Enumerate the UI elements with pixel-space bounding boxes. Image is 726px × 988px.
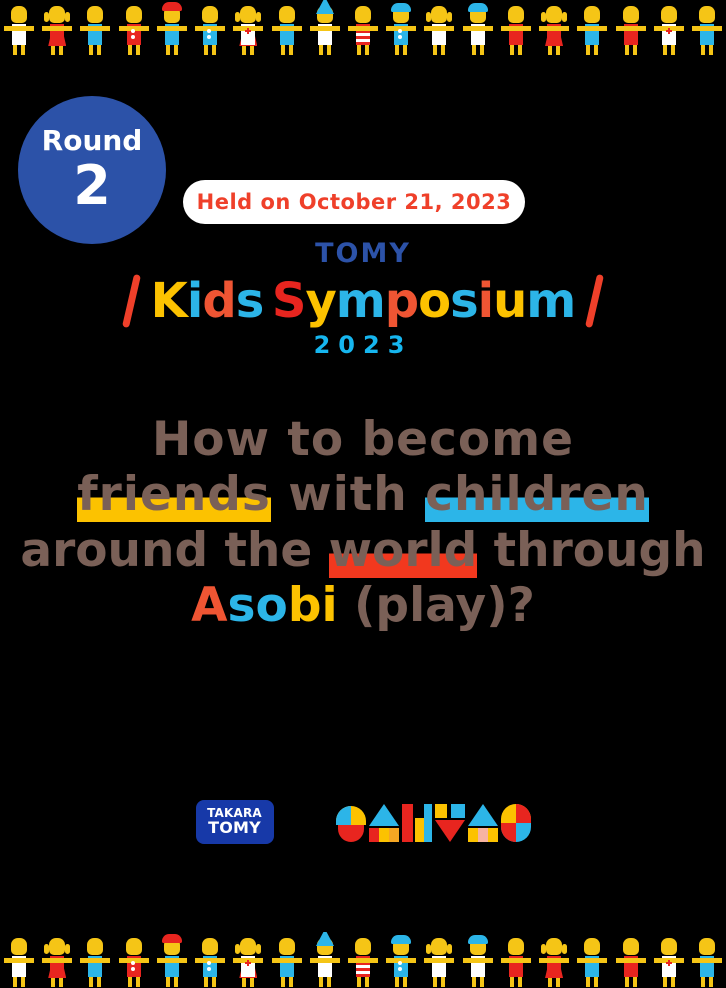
figure-head xyxy=(126,938,142,955)
poster-root: Round 2 Held on October 21, 2023 TOMY Ki… xyxy=(0,0,726,988)
top-kid-figure-5 xyxy=(195,2,225,56)
figure-pigtail-left xyxy=(541,944,546,954)
bottom-kid-figure-9 xyxy=(348,934,378,988)
bottom-kid-figure-7 xyxy=(272,934,302,988)
figure-head xyxy=(126,6,142,23)
figure-head xyxy=(202,6,218,23)
figure-head xyxy=(11,938,27,955)
bottom-kid-figure-1 xyxy=(42,934,72,988)
figure-arms xyxy=(424,958,454,963)
figure-arms xyxy=(310,26,340,31)
figure-legs xyxy=(281,976,293,987)
figure-arms xyxy=(539,958,569,963)
top-kid-border xyxy=(0,0,726,56)
figure-arms xyxy=(4,26,34,31)
figure-head xyxy=(355,938,371,955)
figure-legs xyxy=(319,44,331,55)
top-kid-figure-15 xyxy=(577,2,607,56)
headline-line4-segment-2: bi xyxy=(288,578,338,633)
figure-cap xyxy=(391,3,411,12)
figure-head xyxy=(279,6,295,23)
figure-legs xyxy=(395,44,407,55)
top-kid-figure-3 xyxy=(119,2,149,56)
top-kid-figure-4 xyxy=(157,2,187,56)
figure-head xyxy=(355,6,371,23)
top-kid-figure-10 xyxy=(386,2,416,56)
headline-line4: Asobi (play)? xyxy=(0,578,726,633)
headline-line2-segment-2: children xyxy=(425,467,649,522)
event-logo-letter-10: s xyxy=(450,273,478,329)
figure-arms xyxy=(692,958,722,963)
figure-legs xyxy=(89,976,101,987)
canvas-shape-block-red xyxy=(369,828,379,842)
headline-line3: around the world through xyxy=(0,523,726,578)
figure-pigtail-left xyxy=(235,944,240,954)
figure-head xyxy=(11,6,27,23)
canvas-letter-s xyxy=(501,804,531,844)
bottom-kid-figure-0 xyxy=(4,934,34,988)
canvas-shape-bar-red xyxy=(402,804,413,842)
figure-cross xyxy=(666,28,672,34)
figure-cap-red xyxy=(162,2,182,11)
figure-arms xyxy=(616,958,646,963)
figure-arms xyxy=(348,958,378,963)
headline-line4-segment-3: (play)? xyxy=(338,578,535,633)
figure-head xyxy=(546,6,562,23)
figure-dots xyxy=(398,961,404,975)
figure-arms xyxy=(42,958,72,963)
canvas-shape-top-blue xyxy=(451,804,465,818)
figure-pigtail-left xyxy=(44,944,49,954)
figure-cross xyxy=(245,960,251,966)
headline-line1-segment-0: How to become xyxy=(152,412,574,467)
top-kid-figure-14 xyxy=(539,2,569,56)
figure-head xyxy=(240,938,256,955)
top-kid-figure-11 xyxy=(424,2,454,56)
event-logo-letter-4 xyxy=(263,273,272,329)
figure-legs xyxy=(13,976,25,987)
canvas-shape-block-yellow xyxy=(379,828,389,842)
canvas-shape-quarter-blue xyxy=(336,806,351,825)
event-logo-letter-11: i xyxy=(478,273,493,329)
figure-legs xyxy=(472,44,484,55)
bottom-kid-figure-6 xyxy=(233,934,263,988)
figure-pigtail-right xyxy=(65,12,70,22)
figure-pigtail-right xyxy=(256,944,261,954)
figure-head xyxy=(279,938,295,955)
figure-pigtail-left xyxy=(426,12,431,22)
figure-head xyxy=(584,6,600,23)
figure-legs xyxy=(89,44,101,55)
figure-cross xyxy=(245,28,251,34)
figure-legs xyxy=(357,44,369,55)
figure-legs xyxy=(625,44,637,55)
event-logo-year: 2023 xyxy=(0,333,726,357)
top-kid-figure-18 xyxy=(692,2,722,56)
bottom-kid-figure-18 xyxy=(692,934,722,988)
canvas-shape-s-top-red xyxy=(516,804,531,823)
figure-arms xyxy=(4,958,34,963)
figure-legs xyxy=(510,976,522,987)
figure-arms xyxy=(42,26,72,31)
headline-line3-segment-2: through xyxy=(477,523,705,578)
bottom-kid-figure-16 xyxy=(616,934,646,988)
figure-head xyxy=(623,938,639,955)
figure-arms xyxy=(272,958,302,963)
figure-head xyxy=(87,938,103,955)
canvas-letter-c xyxy=(336,804,366,844)
figure-head xyxy=(431,6,447,23)
headline-line2: friends with children xyxy=(0,467,726,522)
figure-cap xyxy=(391,935,411,944)
figure-pigtail-right xyxy=(562,12,567,22)
canvas-letter-a xyxy=(369,804,399,844)
figure-head xyxy=(699,938,715,955)
canvas-shape-block-yellow-3 xyxy=(488,828,498,842)
figure-head xyxy=(699,6,715,23)
figure-pigtail-left xyxy=(44,12,49,22)
bottom-kid-figure-15 xyxy=(577,934,607,988)
canvas-shape-bar-blue xyxy=(424,804,432,842)
figure-cap-red xyxy=(162,934,182,943)
figure-pigtail-right xyxy=(562,944,567,954)
figure-head xyxy=(87,6,103,23)
event-logo-letter-6: y xyxy=(305,273,335,329)
figure-pigtail-left xyxy=(235,12,240,22)
figure-dots xyxy=(207,961,213,975)
figure-legs xyxy=(281,44,293,55)
figure-legs xyxy=(204,976,216,987)
bottom-kid-figure-8 xyxy=(310,934,340,988)
event-logo-title: Kids Symposium xyxy=(151,277,576,325)
bottom-kid-figure-12 xyxy=(463,934,493,988)
event-logo: TOMY Kids Symposium 2023 xyxy=(0,240,726,357)
figure-legs xyxy=(166,44,178,55)
figure-legs xyxy=(625,976,637,987)
bottom-kid-figure-17 xyxy=(654,934,684,988)
headline-line3-segment-1: world xyxy=(329,523,478,578)
footer-logos: TAKARA TOMY xyxy=(0,800,726,844)
figure-legs xyxy=(472,976,484,987)
figure-pigtail-right xyxy=(256,12,261,22)
headline-line2-segment-1: with xyxy=(271,467,425,522)
event-date-badge: Held on October 21, 2023 xyxy=(183,180,525,224)
canvas-shape-top-yellow xyxy=(435,804,447,818)
figure-head xyxy=(240,6,256,23)
figure-legs xyxy=(166,976,178,987)
event-logo-letter-3: s xyxy=(236,273,264,329)
figure-head xyxy=(49,938,65,955)
canvas-shape-s-bottom-red xyxy=(501,823,516,842)
figure-legs xyxy=(663,976,675,987)
takara-tomy-logo-line2: TOMY xyxy=(208,820,261,837)
top-kid-figure-1 xyxy=(42,2,72,56)
figure-head xyxy=(584,938,600,955)
figure-legs xyxy=(319,976,331,987)
figure-head xyxy=(508,938,524,955)
event-logo-letter-2: d xyxy=(202,273,235,329)
top-kid-figure-16 xyxy=(616,2,646,56)
figure-legs xyxy=(701,976,713,987)
event-logo-brand: TOMY xyxy=(0,240,726,267)
canvas-logo xyxy=(336,800,531,844)
figure-dots xyxy=(207,29,213,43)
figure-arms xyxy=(539,26,569,31)
figure-head xyxy=(661,6,677,23)
figure-head xyxy=(431,938,447,955)
canvas-letter-n xyxy=(402,804,432,844)
round-badge-number: 2 xyxy=(73,159,111,213)
top-kid-figure-0 xyxy=(4,2,34,56)
event-logo-title-row: Kids Symposium xyxy=(0,271,726,331)
round-badge-label: Round xyxy=(42,127,143,155)
figure-head xyxy=(623,6,639,23)
bottom-kid-figure-10 xyxy=(386,934,416,988)
round-badge: Round 2 xyxy=(18,96,166,244)
canvas-shape-triangle-blue-2 xyxy=(468,804,498,826)
top-kid-figure-13 xyxy=(501,2,531,56)
event-date-text: Held on October 21, 2023 xyxy=(197,190,512,214)
figure-cap xyxy=(468,935,488,944)
bottom-kid-figure-3 xyxy=(119,934,149,988)
headline-line2-segment-0: friends xyxy=(77,467,271,522)
figure-legs xyxy=(586,44,598,55)
headline-line1: How to become xyxy=(0,412,726,467)
slash-left-decoration xyxy=(122,274,141,328)
figure-legs xyxy=(128,976,140,987)
figure-head xyxy=(49,6,65,23)
event-logo-letter-8: p xyxy=(385,273,418,329)
figure-head xyxy=(661,938,677,955)
figure-arms xyxy=(157,26,187,31)
figure-arms xyxy=(501,26,531,31)
bottom-kid-figure-13 xyxy=(501,934,531,988)
figure-arms xyxy=(616,26,646,31)
figure-arms xyxy=(157,958,187,963)
figure-legs xyxy=(433,976,445,987)
figure-cone-hat xyxy=(316,0,334,14)
figure-pigtail-left xyxy=(541,12,546,22)
headline-line4-segment-0: A xyxy=(191,578,227,633)
slash-right-decoration xyxy=(585,274,604,328)
figure-arms xyxy=(463,26,493,31)
figure-arms xyxy=(463,958,493,963)
canvas-shape-block-orange xyxy=(389,828,399,842)
top-kid-figure-12 xyxy=(463,2,493,56)
figure-arms xyxy=(80,958,110,963)
bottom-kid-figure-11 xyxy=(424,934,454,988)
figure-pigtail-right xyxy=(447,12,452,22)
event-logo-letter-9: o xyxy=(418,273,450,329)
bottom-kid-figure-14 xyxy=(539,934,569,988)
figure-pigtail-right xyxy=(65,944,70,954)
canvas-shape-triangle-red xyxy=(435,820,465,842)
figure-pigtail-left xyxy=(426,944,431,954)
top-kid-figure-8 xyxy=(310,2,340,56)
top-kid-figure-9 xyxy=(348,2,378,56)
canvas-letter-v xyxy=(435,804,465,844)
event-logo-letter-1: i xyxy=(187,273,202,329)
figure-arms xyxy=(577,958,607,963)
figure-legs xyxy=(357,976,369,987)
top-kid-figure-6 xyxy=(233,2,263,56)
figure-legs xyxy=(701,44,713,55)
headline-line4-segment-1: so xyxy=(228,578,288,633)
event-logo-letter-5: S xyxy=(272,273,306,329)
figure-arms xyxy=(310,958,340,963)
figure-arms xyxy=(501,958,531,963)
figure-arms xyxy=(577,26,607,31)
figure-arms xyxy=(272,26,302,31)
event-logo-letter-12: u xyxy=(493,273,526,329)
event-logo-letter-7: m xyxy=(336,273,385,329)
takara-tomy-logo: TAKARA TOMY xyxy=(196,800,274,844)
canvas-shape-arc-red xyxy=(338,825,364,842)
figure-dots xyxy=(398,29,404,43)
figure-legs xyxy=(586,976,598,987)
bottom-kid-border xyxy=(0,932,726,988)
figure-legs xyxy=(433,44,445,55)
figure-arms xyxy=(692,26,722,31)
figure-dots xyxy=(131,961,137,975)
figure-legs xyxy=(128,44,140,55)
figure-legs xyxy=(510,44,522,55)
figure-arms xyxy=(80,26,110,31)
figure-arms xyxy=(424,26,454,31)
figure-legs xyxy=(395,976,407,987)
figure-legs xyxy=(663,44,675,55)
canvas-shape-bar-yellow xyxy=(415,818,424,842)
bottom-kid-figure-5 xyxy=(195,934,225,988)
figure-head xyxy=(508,6,524,23)
figure-head xyxy=(546,938,562,955)
figure-dots xyxy=(131,29,137,43)
headline-line3-segment-0: around the xyxy=(20,523,328,578)
event-logo-letter-13: m xyxy=(526,273,575,329)
event-logo-letter-0: K xyxy=(151,273,187,329)
figure-cap xyxy=(468,3,488,12)
top-kid-figure-7 xyxy=(272,2,302,56)
top-kid-figure-17 xyxy=(654,2,684,56)
bottom-kid-figure-2 xyxy=(80,934,110,988)
figure-cone-hat xyxy=(316,932,334,946)
figure-pigtail-right xyxy=(447,944,452,954)
figure-arms xyxy=(348,26,378,31)
figure-head xyxy=(202,938,218,955)
figure-legs xyxy=(13,44,25,55)
canvas-shape-block-yellow-2 xyxy=(468,828,478,842)
top-kid-figure-2 xyxy=(80,2,110,56)
canvas-letter-a2 xyxy=(468,804,498,844)
canvas-shape-triangle-blue xyxy=(369,804,399,826)
headline: How to becomefriends with childrenaround… xyxy=(0,412,726,634)
bottom-kid-figure-4 xyxy=(157,934,187,988)
canvas-shape-block-peach xyxy=(478,828,488,842)
figure-cross xyxy=(666,960,672,966)
figure-legs xyxy=(204,44,216,55)
